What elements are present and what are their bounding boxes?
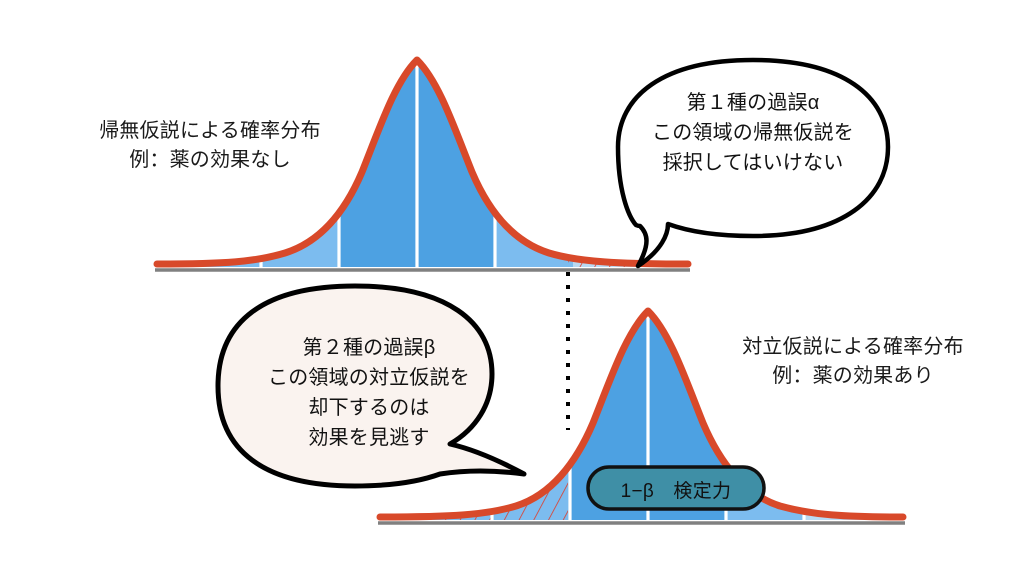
band-plus1-plus2 xyxy=(495,50,573,270)
alternative-distribution-label: 対立仮説による確率分布 例：薬の効果あり xyxy=(708,333,998,391)
power-badge-label: 1−β 検定力 xyxy=(592,476,760,503)
band-minus1-mean xyxy=(339,50,417,270)
distribution-figure xyxy=(0,0,1024,576)
null-distribution-label: 帰無仮説による確率分布 例：薬の効果なし xyxy=(70,117,350,175)
callout-2-text: 第２種の過誤β この領域の対立仮説を 却下するのは 効果を見逃す xyxy=(214,333,524,453)
callout-1-text: 第１種の過誤α この領域の帰無仮説を 採択してはいけない xyxy=(614,88,892,178)
diagram-canvas: 帰無仮説による確率分布 例：薬の効果なし 対立仮説による確率分布 例：薬の効果あ… xyxy=(0,0,1024,576)
band-mean-plus1 xyxy=(417,50,495,270)
